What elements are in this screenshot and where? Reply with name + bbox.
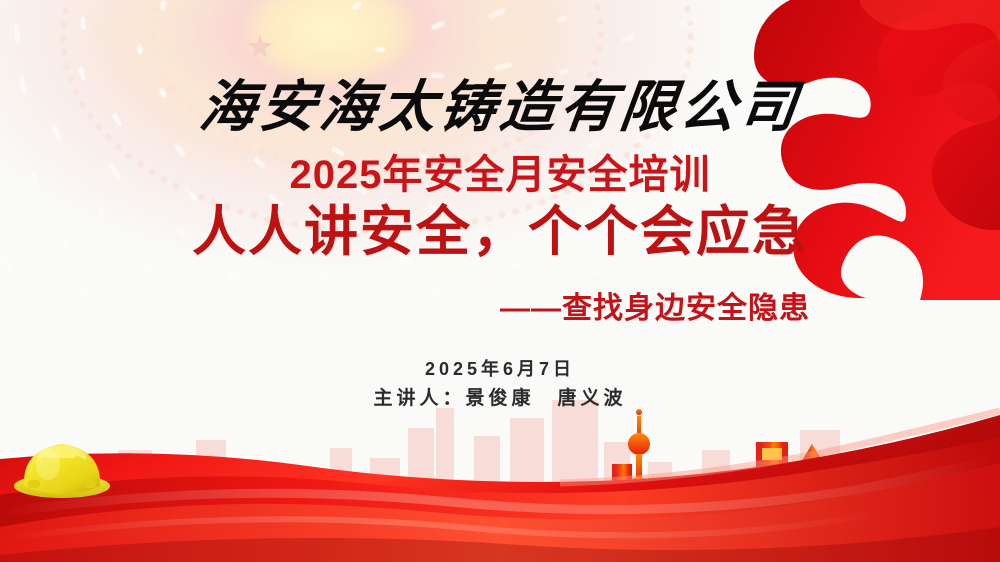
company-name: 海安海太铸造有限公司 — [0, 78, 1000, 138]
presentation-slide: 海安海太铸造有限公司 2025年安全月安全培训 人人讲安全，个个会应急 ——查找… — [0, 0, 1000, 562]
presentation-date: 2025年6月7日 — [0, 356, 1000, 382]
tagline: ——查找身边安全隐患 — [0, 290, 1000, 328]
main-slogan: 人人讲安全，个个会应急 — [0, 199, 1000, 265]
slide-text-block: 海安海太铸造有限公司 2025年安全月安全培训 人人讲安全，个个会应急 ——查找… — [0, 0, 1000, 562]
speaker-names: 主讲人：景俊康 唐义波 — [0, 385, 1000, 413]
training-subtitle: 2025年安全月安全培训 — [0, 152, 1000, 198]
